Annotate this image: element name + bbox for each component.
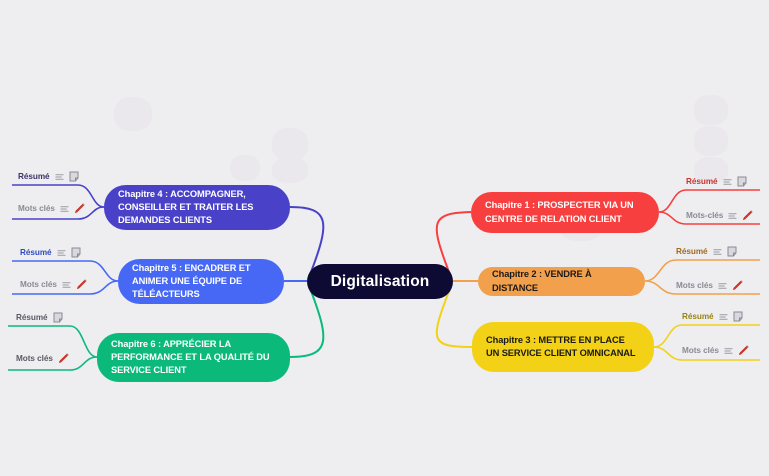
mindmap-canvas[interactable]: Digitalisation Chapitre 1 : PROSPECTER V… [0, 0, 769, 476]
node-chapitre-2[interactable]: Chapitre 2 : VENDRE À DISTANCE [478, 267, 645, 296]
pencil-edit-icon[interactable] [58, 352, 70, 364]
node-chapitre-5[interactable]: Chapitre 5 : ENCADRER ET ANIMER UNE ÉQUI… [118, 259, 284, 304]
leaf-label: Mots clés [18, 204, 55, 213]
watermark-shape [272, 128, 308, 161]
note-document-icon[interactable] [737, 176, 747, 187]
leaf-chapitre-2-motscles[interactable]: Mots clés [676, 279, 744, 291]
pencil-edit-icon[interactable] [742, 209, 754, 221]
list-lines-icon[interactable] [723, 177, 732, 186]
list-lines-icon[interactable] [713, 247, 722, 256]
note-document-icon[interactable] [53, 312, 63, 323]
leaf-label: Résumé [682, 312, 714, 321]
list-lines-icon[interactable] [57, 248, 66, 257]
node-chapitre-2-label: Chapitre 2 : VENDRE À DISTANCE [492, 268, 631, 294]
leaf-chapitre-1-resume[interactable]: Résumé [686, 176, 747, 187]
leaf-label: Résumé [676, 247, 708, 256]
central-node-label: Digitalisation [331, 273, 430, 291]
leaf-label: Mots clés [20, 280, 57, 289]
node-chapitre-4[interactable]: Chapitre 4 : ACCOMPAGNER, CONSEILLER ET … [104, 185, 290, 230]
leaf-chapitre-4-resume[interactable]: Résumé [18, 171, 79, 182]
watermark-shape [272, 157, 308, 183]
leaf-chapitre-4-motscles[interactable]: Mots clés [18, 202, 86, 214]
node-chapitre-3[interactable]: Chapitre 3 : METTRE EN PLACE UN SERVICE … [472, 322, 654, 372]
note-document-icon[interactable] [69, 171, 79, 182]
leaf-label: Résumé [686, 177, 718, 186]
node-chapitre-1[interactable]: Chapitre 1 : PROSPECTER VIA UN CENTRE DE… [471, 192, 659, 233]
list-lines-icon[interactable] [62, 280, 71, 289]
leaf-chapitre-3-motscles[interactable]: Mots clés [682, 344, 750, 356]
pencil-edit-icon[interactable] [738, 344, 750, 356]
leaf-label: Résumé [18, 172, 50, 181]
node-chapitre-4-label: Chapitre 4 : ACCOMPAGNER, CONSEILLER ET … [118, 188, 276, 228]
list-lines-icon[interactable] [724, 346, 733, 355]
node-chapitre-3-label: Chapitre 3 : METTRE EN PLACE UN SERVICE … [486, 334, 640, 360]
leaf-chapitre-5-motscles[interactable]: Mots clés [20, 278, 88, 290]
list-lines-icon[interactable] [60, 204, 69, 213]
leaf-label: Résumé [20, 248, 52, 257]
leaf-chapitre-6-motscles[interactable]: Mots clés [16, 352, 70, 364]
list-lines-icon[interactable] [719, 312, 728, 321]
leaf-chapitre-2-resume[interactable]: Résumé [676, 246, 737, 257]
watermark-shape [114, 97, 152, 131]
central-node-digitalisation[interactable]: Digitalisation [307, 264, 453, 299]
note-document-icon[interactable] [727, 246, 737, 257]
leaf-label: Mots clés [676, 281, 713, 290]
leaf-label: Mots clés [16, 354, 53, 363]
watermark-shape [694, 95, 728, 125]
pencil-edit-icon[interactable] [732, 279, 744, 291]
node-chapitre-6[interactable]: Chapitre 6 : APPRÉCIER LA PERFORMANCE ET… [97, 333, 290, 382]
leaf-chapitre-3-resume[interactable]: Résumé [682, 311, 743, 322]
list-lines-icon[interactable] [55, 172, 64, 181]
list-lines-icon[interactable] [718, 281, 727, 290]
pencil-edit-icon[interactable] [76, 278, 88, 290]
list-lines-icon[interactable] [728, 211, 737, 220]
node-chapitre-5-label: Chapitre 5 : ENCADRER ET ANIMER UNE ÉQUI… [132, 262, 270, 302]
leaf-chapitre-5-resume[interactable]: Résumé [20, 247, 81, 258]
leaf-chapitre-1-motscles[interactable]: Mots-clés [686, 209, 754, 221]
leaf-label: Résumé [16, 313, 48, 322]
note-document-icon[interactable] [71, 247, 81, 258]
pencil-edit-icon[interactable] [74, 202, 86, 214]
connector-links [0, 0, 769, 476]
leaf-label: Mots clés [682, 346, 719, 355]
note-document-icon[interactable] [733, 311, 743, 322]
leaf-chapitre-6-resume[interactable]: Résumé [16, 312, 63, 323]
watermark-shape [230, 155, 260, 181]
node-chapitre-1-label: Chapitre 1 : PROSPECTER VIA UN CENTRE DE… [485, 199, 645, 225]
leaf-label: Mots-clés [686, 211, 723, 220]
watermark-shape [694, 126, 728, 156]
node-chapitre-6-label: Chapitre 6 : APPRÉCIER LA PERFORMANCE ET… [111, 338, 276, 378]
